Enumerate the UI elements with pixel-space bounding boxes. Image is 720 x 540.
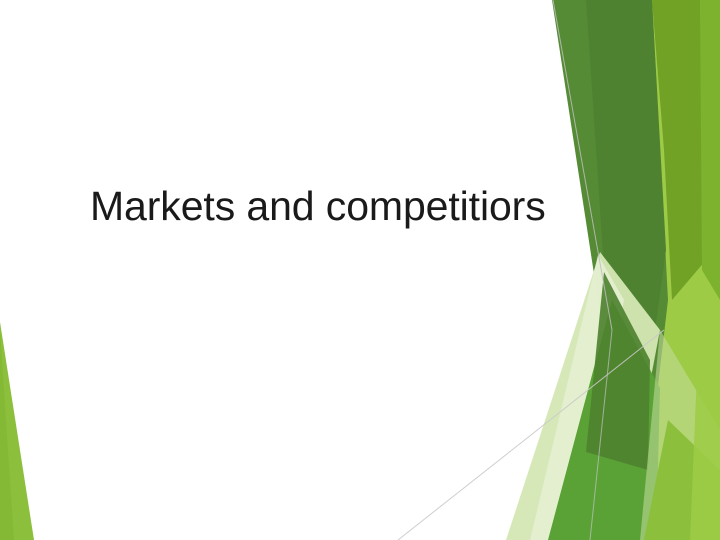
decor-shape-dark-olive-band	[552, 0, 668, 540]
decor-shape-mid-green-lower	[548, 300, 660, 540]
decor-hairline-steep-lower	[590, 330, 612, 540]
decor-shape-bottom-left-wedge-edge	[0, 330, 14, 540]
slide-canvas: Markets and competitiors	[0, 0, 720, 540]
decor-shape-dark-green-lower	[586, 272, 650, 470]
decor-hairline-steep	[553, 0, 612, 330]
decor-shape-pale-overlay-right	[640, 330, 720, 540]
decor-shape-right-sliver-bottom	[690, 300, 720, 540]
facet-decorative-graphic	[0, 0, 720, 540]
decor-shape-bottom-right-corner	[644, 420, 720, 540]
decor-shape-dark-olive-inner	[586, 0, 666, 470]
slide-title-placeholder[interactable]: Markets and competitiors	[90, 176, 560, 238]
decor-shape-pale-sliver	[530, 255, 624, 540]
decor-shape-bottom-left-wedge	[0, 322, 34, 540]
decor-shape-mid-green-upper	[652, 0, 706, 300]
slide-title-text: Markets and competitiors	[90, 183, 546, 230]
decor-shape-leaf-column	[700, 0, 720, 300]
decor-shape-pale-wedge-large	[506, 252, 660, 540]
decor-hairline-shallow	[398, 330, 664, 540]
decor-shape-right-base	[560, 0, 720, 540]
decor-shape-bright-band	[612, 0, 720, 540]
